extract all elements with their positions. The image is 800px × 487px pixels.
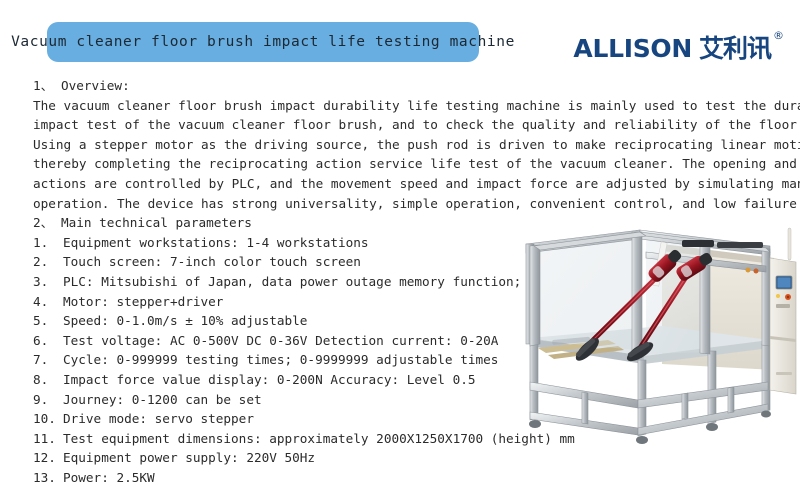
parameter-text: Equipment power supply: 220V 50Hz [63, 448, 315, 468]
parameter-number: 2. [33, 252, 63, 272]
parameter-number: 5. [33, 311, 63, 331]
cabinet-tube [788, 228, 791, 260]
logo-latin-text: ALLISON [573, 36, 692, 61]
parameter-item: 12. Equipment power supply: 220V 50Hz [33, 448, 789, 468]
overview-line: Using a stepper motor as the driving sou… [33, 135, 789, 155]
parameter-number: 7. [33, 350, 63, 370]
parameter-number: 1. [33, 233, 63, 253]
overview-heading: 1、 Overview: [33, 76, 789, 96]
title-banner: Vacuum cleaner floor brush impact life t… [47, 22, 479, 62]
brand-logo: ALLISON 艾利讯 ® [573, 36, 784, 61]
page-title: Vacuum cleaner floor brush impact life t… [11, 34, 515, 50]
parameter-text: Drive mode: servo stepper [63, 409, 254, 429]
parameter-text: Cycle: 0-999999 testing times; 0-9999999… [63, 350, 498, 370]
parameter-text: PLC: Mitsubishi of Japan, data power out… [63, 272, 521, 292]
parameter-text: Motor: stepper+driver [63, 292, 223, 312]
page-header: Vacuum cleaner floor brush impact life t… [0, 0, 800, 72]
parameter-text: Impact force value display: 0-200N Accur… [63, 370, 475, 390]
parameter-text: Test equipment dimensions: approximately… [63, 429, 575, 449]
registered-trademark-icon: ® [773, 30, 784, 41]
overview-line: operation. The device has strong univers… [33, 194, 789, 214]
parameter-number: 10. [33, 409, 63, 429]
testing-machine-illustration [512, 222, 800, 450]
indicator-light-icon [776, 294, 780, 298]
machine-photo [512, 222, 800, 450]
parameter-number: 11. [33, 429, 63, 449]
parameter-text: Power: 2.5KW [63, 468, 155, 487]
parameter-item: 13. Power: 2.5KW [33, 468, 789, 487]
parameter-text: Test voltage: AC 0-500V DC 0-36V Detecti… [63, 331, 498, 351]
parameter-number: 8. [33, 370, 63, 390]
overview-line: thereby completing the reciprocating act… [33, 154, 789, 174]
cabinet-label [776, 304, 790, 308]
parameter-text: Journey: 0-1200 can be set [63, 390, 262, 410]
parameter-text: Touch screen: 7-inch color touch screen [63, 252, 361, 272]
parameter-number: 12. [33, 448, 63, 468]
overview-line: actions are controlled by PLC, and the m… [33, 174, 789, 194]
overview-line: impact test of the vacuum cleaner floor … [33, 115, 789, 135]
parameter-number: 13. [33, 468, 63, 487]
control-cabinet [770, 228, 796, 394]
parameter-number: 4. [33, 292, 63, 312]
parameter-number: 6. [33, 331, 63, 351]
overview-line: The vacuum cleaner floor brush impact du… [33, 96, 789, 116]
parameter-text: Equipment workstations: 1-4 workstations [63, 233, 369, 253]
parameter-text: Speed: 0-1.0m/s ± 10% adjustable [63, 311, 307, 331]
parameter-number: 9. [33, 390, 63, 410]
logo-cjk-text: 艾利讯 [699, 36, 771, 61]
parameter-number: 3. [33, 272, 63, 292]
overview-paragraph: The vacuum cleaner floor brush impact du… [33, 96, 789, 214]
machine-glass-panels [534, 236, 708, 354]
